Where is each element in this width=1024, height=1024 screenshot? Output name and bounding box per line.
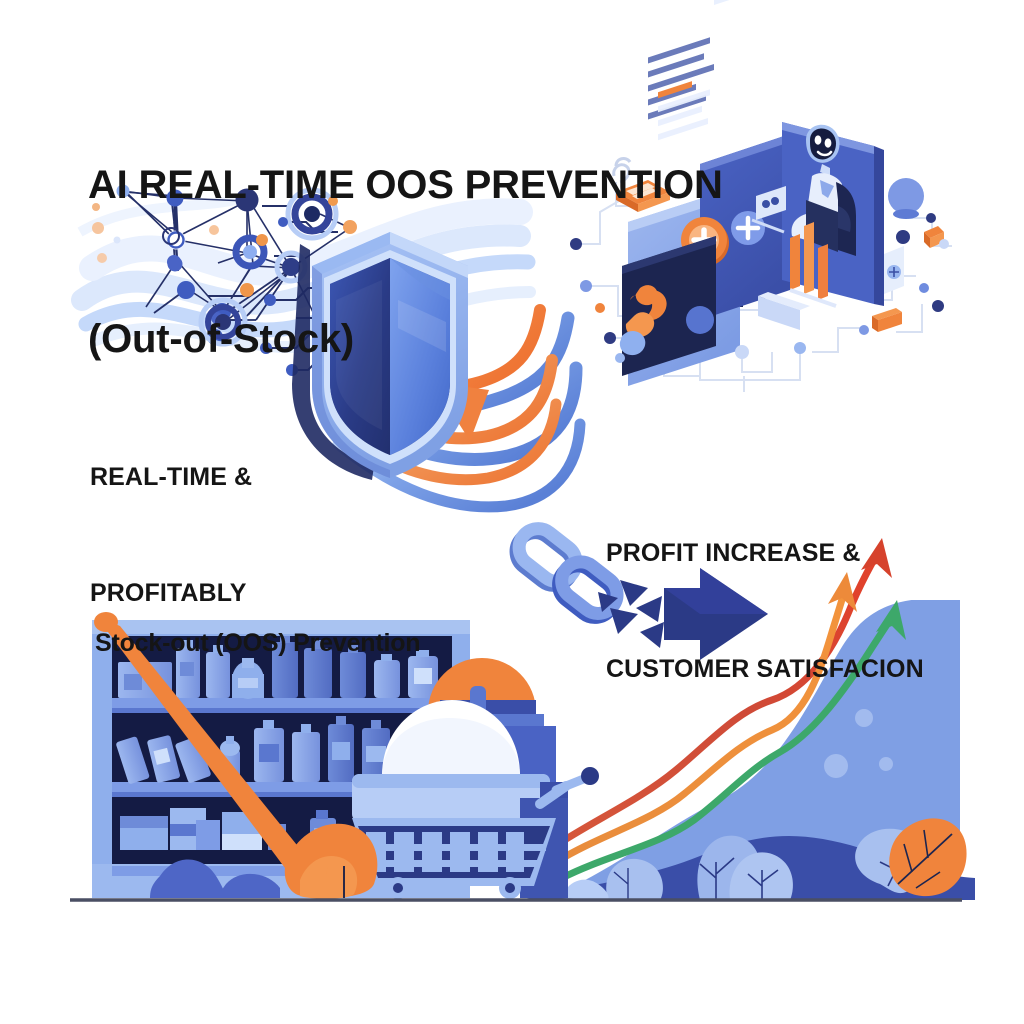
- device-card-icon: [884, 246, 904, 294]
- label-profit-increase-customer-satisfaction: PROFIT INCREASE & CUSTOMER SATISFACION: [606, 456, 924, 766]
- page-title-line-1: AI REAL-TIME OOS PREVENTION: [88, 160, 723, 211]
- label-real-time-line-1: REAL-TIME &: [90, 458, 252, 497]
- label-profit-line-1: PROFIT INCREASE &: [606, 534, 924, 573]
- label-stock-out-line-1: Stock-out (OOS) Prevention: [95, 628, 420, 658]
- label-profit-line-2: CUSTOMER SATISFACION: [606, 650, 924, 689]
- page-title-line-2: (Out-of-Stock): [88, 314, 723, 365]
- infographic-canvas: AI REAL-TIME OOS PREVENTION (Out-of-Stoc…: [0, 0, 1024, 1024]
- folder-icon: [872, 308, 902, 332]
- label-stock-out-prevention: Stock-out (OOS) Prevention: [95, 568, 420, 718]
